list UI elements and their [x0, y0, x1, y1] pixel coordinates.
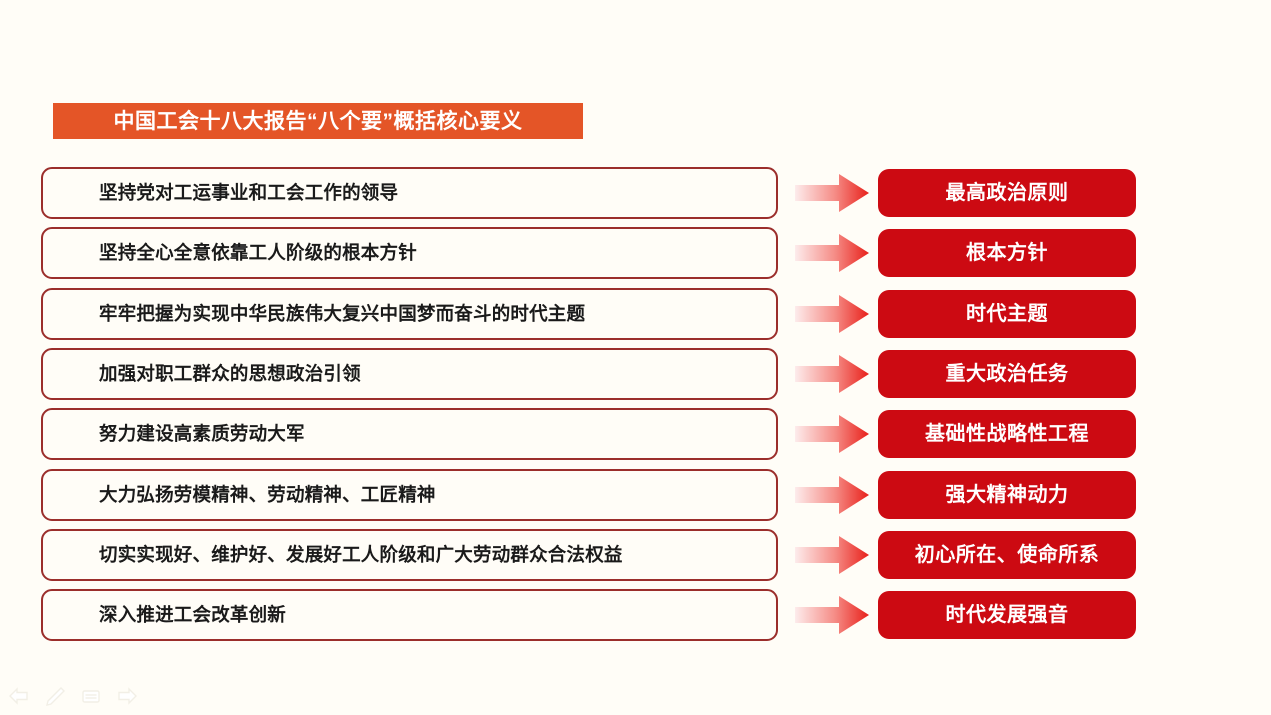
- statement-box[interactable]: 坚持全心全意依靠工人阶级的根本方针: [41, 227, 778, 279]
- arrow-right-icon: [795, 174, 869, 212]
- outcome-badge-text: 强大精神动力: [946, 485, 1069, 505]
- principle-row: 努力建设高素质劳动大军基础性战略性工程: [0, 408, 1271, 460]
- outcome-badge[interactable]: 重大政治任务: [878, 350, 1136, 398]
- outcome-badge[interactable]: 初心所在、使命所系: [878, 531, 1136, 579]
- arrow-right-icon: [795, 596, 869, 634]
- arrow-right-icon: [795, 476, 869, 514]
- statement-text: 牢牢把握为实现中华民族伟大复兴中国梦而奋斗的时代主题: [99, 305, 585, 324]
- statement-box[interactable]: 牢牢把握为实现中华民族伟大复兴中国梦而奋斗的时代主题: [41, 288, 778, 340]
- statement-text: 努力建设高素质劳动大军: [99, 425, 305, 444]
- slide-canvas: 中国工会十八大报告“八个要”概括核心要义 坚持党对工运事业和工会工作的领导最高政…: [0, 0, 1271, 715]
- outcome-badge-text: 时代发展强音: [946, 605, 1069, 625]
- outcome-badge[interactable]: 基础性战略性工程: [878, 410, 1136, 458]
- outcome-badge[interactable]: 强大精神动力: [878, 471, 1136, 519]
- outcome-badge-text: 最高政治原则: [946, 183, 1069, 203]
- previous-arrow-icon[interactable]: [8, 686, 30, 706]
- page-title: 中国工会十八大报告“八个要”概括核心要义: [114, 111, 523, 132]
- statement-text: 深入推进工会改革创新: [99, 606, 286, 625]
- bottom-toolbar[interactable]: [8, 683, 138, 709]
- statement-text: 坚持党对工运事业和工会工作的领导: [99, 184, 398, 203]
- statement-box[interactable]: 努力建设高素质劳动大军: [41, 408, 778, 460]
- arrow-right-icon: [795, 355, 869, 393]
- principle-row: 坚持全心全意依靠工人阶级的根本方针根本方针: [0, 227, 1271, 279]
- principle-row: 坚持党对工运事业和工会工作的领导最高政治原则: [0, 167, 1271, 219]
- outcome-badge[interactable]: 时代发展强音: [878, 591, 1136, 639]
- outcome-badge[interactable]: 时代主题: [878, 290, 1136, 338]
- next-arrow-icon[interactable]: [116, 686, 138, 706]
- arrow-right-icon: [795, 536, 869, 574]
- principle-row: 加强对职工群众的思想政治引领重大政治任务: [0, 348, 1271, 400]
- outcome-badge-text: 根本方针: [966, 243, 1048, 263]
- statement-text: 加强对职工群众的思想政治引领: [99, 365, 361, 384]
- statement-box[interactable]: 切实实现好、维护好、发展好工人阶级和广大劳动群众合法权益: [41, 529, 778, 581]
- statement-box[interactable]: 大力弘扬劳模精神、劳动精神、工匠精神: [41, 469, 778, 521]
- outcome-badge[interactable]: 根本方针: [878, 229, 1136, 277]
- statement-text: 切实实现好、维护好、发展好工人阶级和广大劳动群众合法权益: [99, 546, 623, 565]
- principle-row: 牢牢把握为实现中华民族伟大复兴中国梦而奋斗的时代主题时代主题: [0, 288, 1271, 340]
- principle-row: 切实实现好、维护好、发展好工人阶级和广大劳动群众合法权益初心所在、使命所系: [0, 529, 1271, 581]
- outcome-badge-text: 基础性战略性工程: [925, 424, 1089, 444]
- statement-box[interactable]: 坚持党对工运事业和工会工作的领导: [41, 167, 778, 219]
- statement-text: 坚持全心全意依靠工人阶级的根本方针: [99, 244, 417, 263]
- statement-text: 大力弘扬劳模精神、劳动精神、工匠精神: [99, 486, 436, 505]
- arrow-right-icon: [795, 234, 869, 272]
- outcome-badge[interactable]: 最高政治原则: [878, 169, 1136, 217]
- outcome-badge-text: 时代主题: [966, 304, 1048, 324]
- arrow-right-icon: [795, 295, 869, 333]
- principle-row: 深入推进工会改革创新时代发展强音: [0, 589, 1271, 641]
- outcome-badge-text: 初心所在、使命所系: [915, 545, 1100, 565]
- menu-icon[interactable]: [80, 686, 102, 706]
- pen-icon[interactable]: [44, 686, 66, 706]
- arrow-right-icon: [795, 415, 869, 453]
- principle-row: 大力弘扬劳模精神、劳动精神、工匠精神强大精神动力: [0, 469, 1271, 521]
- statement-box[interactable]: 深入推进工会改革创新: [41, 589, 778, 641]
- outcome-badge-text: 重大政治任务: [946, 364, 1069, 384]
- slide-title-banner: 中国工会十八大报告“八个要”概括核心要义: [53, 103, 583, 139]
- statement-box[interactable]: 加强对职工群众的思想政治引领: [41, 348, 778, 400]
